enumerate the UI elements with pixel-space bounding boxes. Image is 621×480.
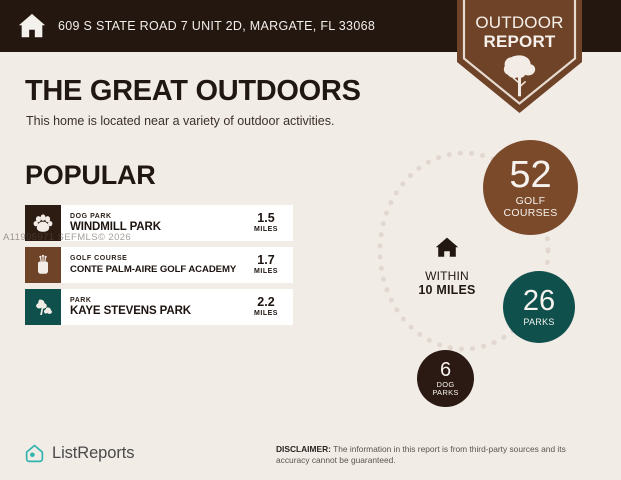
poi-distance-unit: MILES [254, 225, 278, 234]
list-item[interactable]: PARK KAYE STEVENS PARK 2.2 MILES [25, 289, 293, 325]
stat-value: 6 [440, 360, 451, 380]
home-icon [17, 11, 47, 41]
stat-label-line-2: PARKS [432, 388, 458, 397]
stat-circle-dog-parks: 6 DOG PARKS [417, 350, 474, 407]
list-item[interactable]: DOG PARK WINDMILL PARK 1.5 MILES [25, 205, 293, 241]
poi-text: GOLF COURSE CONTE PALM-AIRE GOLF ACADEMY [61, 247, 243, 283]
poi-name: CONTE PALM-AIRE GOLF ACADEMY [70, 263, 243, 276]
badge-line-1: OUTDOOR [457, 13, 582, 32]
poi-text: PARK KAYE STEVENS PARK [61, 289, 243, 325]
stat-label: GOLF COURSES [503, 196, 557, 218]
poi-distance-value: 2.2 [257, 296, 274, 309]
poi-tile [25, 247, 61, 283]
poi-distance-value: 1.7 [257, 254, 274, 267]
popular-heading: POPULAR [25, 160, 156, 191]
page-title: THE GREAT OUTDOORS [25, 75, 361, 108]
paw-icon [31, 211, 55, 235]
page-subtitle: This home is located near a variety of o… [26, 114, 334, 128]
poi-distance-unit: MILES [254, 267, 278, 276]
stat-label-line-2: COURSES [503, 207, 557, 219]
poi-category: DOG PARK [70, 212, 243, 221]
list-item[interactable]: GOLF COURSE CONTE PALM-AIRE GOLF ACADEMY… [25, 247, 293, 283]
outdoor-report-page: 609 S STATE ROAD 7 UNIT 2D, MARGATE, FL … [0, 0, 621, 480]
poi-category: GOLF COURSE [70, 254, 243, 263]
stat-label: DOG PARKS [432, 381, 458, 397]
within-line-1: WITHIN [403, 269, 491, 283]
poi-distance: 2.2 MILES [243, 289, 293, 325]
within-10-miles-infographic: WITHIN 10 MILES 52 GOLF COURSES 26 PARKS… [355, 128, 605, 418]
stat-circle-parks: 26 PARKS [503, 271, 575, 343]
poi-distance-value: 1.5 [257, 212, 274, 225]
listreports-brand-text: ListReports [52, 444, 134, 463]
within-line-2: 10 MILES [403, 283, 491, 298]
listreports-house-pin-icon [24, 443, 45, 464]
golf-bag-icon [31, 253, 55, 277]
poi-tile [25, 289, 61, 325]
disclaimer: DISCLAIMER: The information in this repo… [276, 444, 596, 466]
disclaimer-label: DISCLAIMER: [276, 444, 331, 454]
stat-label: PARKS [523, 318, 554, 327]
poi-distance-unit: MILES [254, 309, 278, 318]
stat-value: 26 [523, 287, 555, 316]
poi-name: WINDMILL PARK [70, 221, 243, 234]
property-address: 609 S STATE ROAD 7 UNIT 2D, MARGATE, FL … [58, 19, 375, 33]
listreports-logo[interactable]: ListReports [24, 443, 134, 464]
outdoor-report-badge: OUTDOOR REPORT [457, 0, 582, 113]
badge-label: OUTDOOR REPORT [457, 13, 582, 51]
poi-text: DOG PARK WINDMILL PARK [61, 205, 243, 241]
poi-category: PARK [70, 296, 243, 305]
badge-line-2: REPORT [457, 32, 582, 51]
stat-circle-golf-courses: 52 GOLF COURSES [483, 140, 578, 235]
home-icon [403, 236, 491, 265]
poi-name: KAYE STEVENS PARK [70, 305, 243, 318]
within-radius-block: WITHIN 10 MILES [403, 236, 491, 298]
popular-list: DOG PARK WINDMILL PARK 1.5 MILES [25, 205, 293, 331]
poi-tile [25, 205, 61, 241]
poi-distance: 1.5 MILES [243, 205, 293, 241]
stat-value: 52 [509, 156, 551, 194]
poi-distance: 1.7 MILES [243, 247, 293, 283]
tree-icon [31, 295, 55, 319]
